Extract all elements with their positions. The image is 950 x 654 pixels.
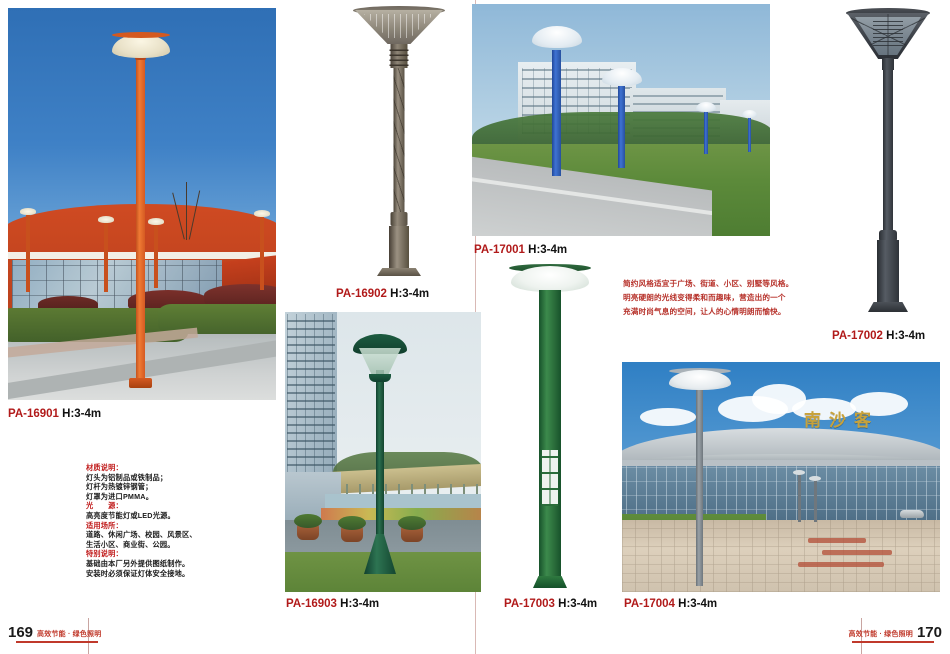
column-base xyxy=(533,576,567,588)
pole-twist-lines xyxy=(394,68,405,214)
product-shot-pa-17003 xyxy=(497,262,603,592)
background-lamp-pole xyxy=(260,216,264,290)
lamp-head-distant xyxy=(742,110,757,118)
spec-heading-applications: 适用场所： xyxy=(86,521,216,531)
lamp-head-diffuser xyxy=(602,68,642,86)
potted-plant xyxy=(294,514,322,528)
lamp-pole-distant xyxy=(748,114,751,152)
product-height: H:3-4m xyxy=(340,598,379,610)
spec-line: 生活小区、商业街、公园。 xyxy=(86,540,216,550)
background-lamp-pole xyxy=(26,214,30,292)
paving-accent xyxy=(798,562,884,567)
product-code: PA-17003 xyxy=(504,598,555,610)
background-lamp-pole xyxy=(814,480,817,522)
page-footer-right: 高效节能 · 绿色照明 170 xyxy=(849,626,942,640)
potted-plant xyxy=(398,516,426,530)
product-label-pa-16903: PA-16903 H:3-4m xyxy=(286,598,379,610)
spec-line: 灯头为铝制品或铁制品； xyxy=(86,473,216,483)
column-light-window xyxy=(542,450,558,506)
lamp-pole xyxy=(883,70,893,232)
background-lamp-pole xyxy=(154,224,158,288)
product-photo-pa-16901 xyxy=(8,8,276,400)
product-label-pa-17001: PA-17001 H:3-4m xyxy=(474,244,567,256)
pole-lower-section xyxy=(389,226,409,270)
product-height: H:3-4m xyxy=(528,244,567,256)
product-shot-pa-16902 xyxy=(333,4,465,282)
background-lamp-pole xyxy=(104,222,108,292)
pole-mid-ring xyxy=(391,212,408,226)
lamp-head-ribs xyxy=(848,14,928,58)
lamp-base xyxy=(129,378,152,388)
product-height: H:3-4m xyxy=(886,330,925,342)
product-height: H:3-4m xyxy=(558,598,597,610)
building-sign-text: 南沙客 xyxy=(804,406,879,431)
lamp-head-diffuser xyxy=(511,266,589,292)
page-number-left: 169 xyxy=(8,626,33,640)
spec-line: 灯杆为热镀锌钢管； xyxy=(86,482,216,492)
description-line: 简约风格适宜于广场、街道、小区、别墅等风格。 xyxy=(623,277,809,291)
spec-line: 基础由本厂另外提供图纸制作。 xyxy=(86,559,216,569)
lamp-head-diffuser xyxy=(669,370,731,390)
background-lamp-head xyxy=(98,216,114,223)
product-label-pa-17002: PA-17002 H:3-4m xyxy=(832,330,925,342)
product-height: H:3-4m xyxy=(390,288,429,300)
spec-heading-material: 材质说明： xyxy=(86,463,216,473)
office-tower xyxy=(285,312,337,476)
spec-line: 安装时必须保证灯体安全接地。 xyxy=(86,569,216,579)
spec-heading-light-source: 光 源： xyxy=(86,501,216,511)
cloud xyxy=(640,408,696,426)
pole-base-plate xyxy=(868,302,908,312)
lamp-pole xyxy=(696,388,703,586)
window-grid xyxy=(542,450,558,506)
lamp-pole-primary xyxy=(552,50,561,176)
product-code: PA-17004 xyxy=(624,598,675,610)
potted-plant xyxy=(338,516,366,530)
product-code: PA-16903 xyxy=(286,598,337,610)
background-lamp-head xyxy=(793,470,805,475)
spec-line: 高亮度节能灯或LED光源。 xyxy=(86,511,216,521)
lamp-column xyxy=(539,290,561,580)
product-code: PA-16902 xyxy=(336,288,387,300)
product-label-pa-17003: PA-17003 H:3-4m xyxy=(504,598,597,610)
lamp-pole-distant xyxy=(704,108,708,154)
product-label-pa-16901: PA-16901 H:3-4m xyxy=(8,408,101,420)
background-lamp-head xyxy=(809,476,821,481)
footer-underline xyxy=(16,641,98,643)
product-photo-pa-16903 xyxy=(285,312,481,592)
paving-pattern xyxy=(622,520,940,592)
paving-accent xyxy=(808,538,866,543)
pole-base-plate xyxy=(377,268,421,276)
lamp-head-distant xyxy=(696,102,716,112)
product-height: H:3-4m xyxy=(62,408,101,420)
lamp-head-rim xyxy=(112,32,170,38)
page-number-right: 170 xyxy=(917,626,942,640)
catalog-spread: PA-16901 H:3-4m 材质说明： 灯头为铝制品或铁制品； 灯杆为热镀锌… xyxy=(0,0,950,654)
lamp-head-bottom xyxy=(369,374,391,382)
description-paragraph: 简约风格适宜于广场、街道、小区、别墅等风格。 明亮硬朗的光线变得柔和而趣味，营造… xyxy=(623,277,809,319)
terminal-canopy xyxy=(622,460,940,466)
product-label-pa-17004: PA-17004 H:3-4m xyxy=(624,598,717,610)
lamp-pole-twisted xyxy=(394,68,405,214)
product-label-pa-16902: PA-16902 H:3-4m xyxy=(336,288,429,300)
spec-line: 灯罩为进口PMMA。 xyxy=(86,492,216,502)
lamp-collar-rings xyxy=(390,48,409,66)
paving-accent xyxy=(822,550,892,555)
page-footer-left: 169 高效节能 · 绿色照明 xyxy=(8,626,101,640)
product-code: PA-17002 xyxy=(832,330,883,342)
product-shot-pa-17002 xyxy=(830,4,946,322)
background-lamp-head xyxy=(20,208,36,215)
footer-tagline: 高效节能 · 绿色照明 xyxy=(849,629,913,640)
lamp-pole xyxy=(376,370,384,552)
lamp-pole xyxy=(136,52,145,384)
footer-tagline: 高效节能 · 绿色照明 xyxy=(37,629,101,640)
product-code: PA-17001 xyxy=(474,244,525,256)
spec-line: 道路、休闲广场、校园、风景区、 xyxy=(86,530,216,540)
background-lamp-head xyxy=(148,218,164,225)
pole-lower-section xyxy=(877,240,899,304)
lamp-pole-secondary xyxy=(618,86,625,168)
product-height: H:3-4m xyxy=(678,598,717,610)
parked-car xyxy=(900,510,924,518)
product-photo-pa-17001 xyxy=(472,4,770,236)
product-code: PA-16901 xyxy=(8,408,59,420)
water-feature xyxy=(325,494,481,508)
spec-heading-notes: 特别说明： xyxy=(86,549,216,559)
plaza-paving xyxy=(622,520,940,592)
product-photo-pa-17004: 南沙客 xyxy=(622,362,940,592)
lamp-neck xyxy=(882,58,894,70)
description-line: 明亮硬朗的光线变得柔和而趣味，营造出的一个 xyxy=(623,291,809,305)
footer-underline xyxy=(852,641,934,643)
specification-block: 材质说明： 灯头为铝制品或铁制品； 灯杆为热镀锌钢管； 灯罩为进口PMMA。 光… xyxy=(86,463,216,578)
background-lamp-pole xyxy=(798,474,801,522)
description-line: 充满时尚气息的空间，让人的心情明朗而愉快。 xyxy=(623,305,809,319)
background-lamp-head xyxy=(254,210,270,217)
bare-tree xyxy=(186,182,187,240)
